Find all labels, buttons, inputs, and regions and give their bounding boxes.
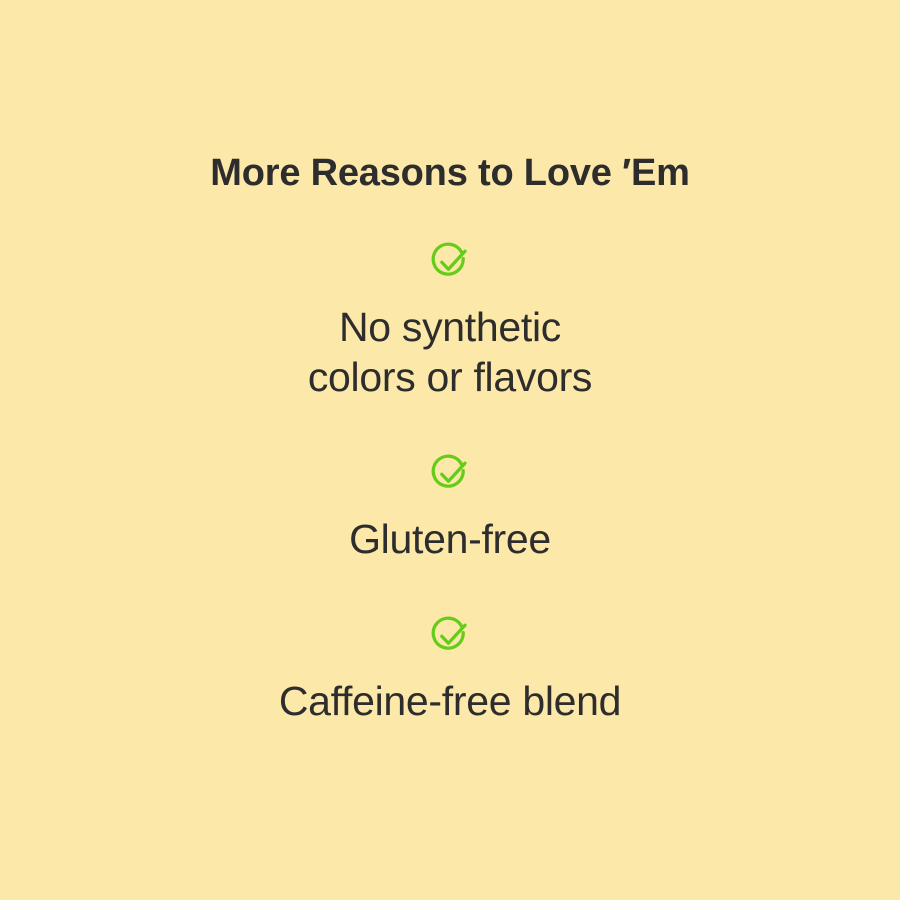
list-item-label: Caffeine-free blend: [279, 676, 621, 726]
benefits-list: No synthetic colors or flavors Gluten-fr…: [0, 240, 900, 726]
list-item-label: Gluten-free: [349, 514, 551, 564]
list-item: Gluten-free: [0, 452, 900, 564]
check-circle-icon: [428, 452, 472, 496]
check-circle-icon: [428, 240, 472, 284]
page-title: More Reasons to Love ′Em: [210, 152, 689, 196]
list-item: Caffeine-free blend: [0, 614, 900, 726]
list-item: No synthetic colors or flavors: [0, 240, 900, 402]
list-item-label: No synthetic colors or flavors: [308, 302, 592, 402]
benefits-panel: More Reasons to Love ′Em No synthetic co…: [0, 0, 900, 900]
check-circle-icon: [428, 614, 472, 658]
